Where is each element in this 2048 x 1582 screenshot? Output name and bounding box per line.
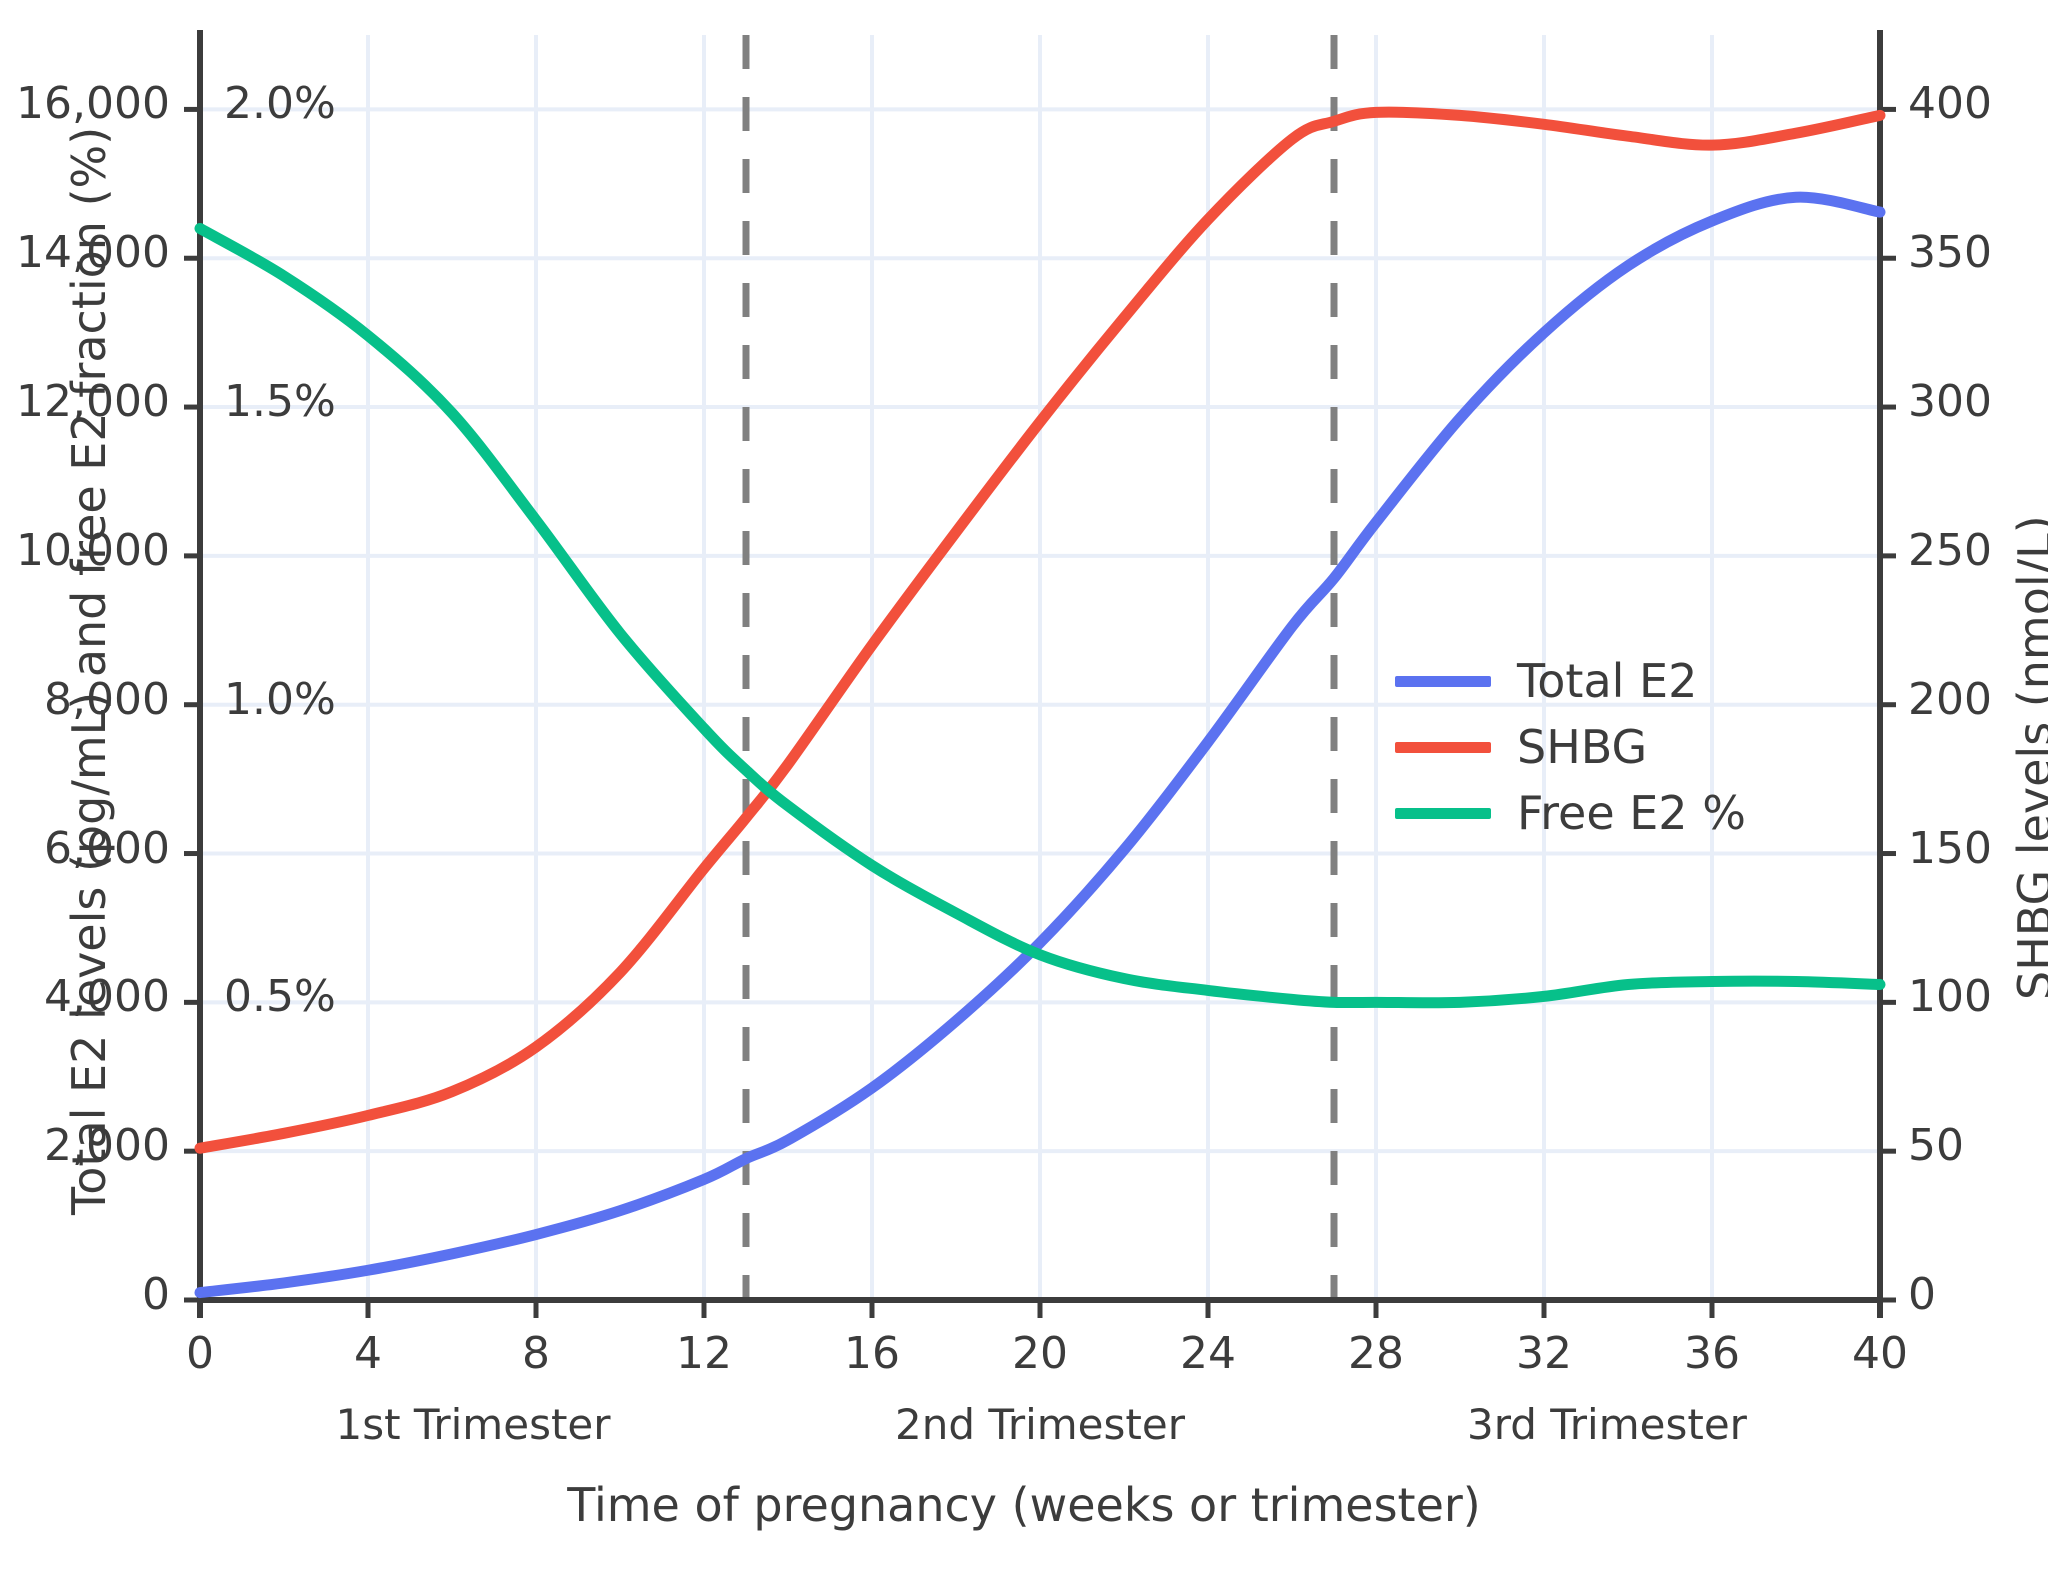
legend-label-shbg: SHBG: [1517, 720, 1647, 774]
y-tick-label-left: 8,000: [0, 674, 170, 725]
y-tick-label-left: 12,000: [0, 376, 170, 427]
x-tick-label: 40: [1810, 1328, 1950, 1379]
y-tick-label-right: 0: [1908, 1269, 1936, 1320]
x-tick-label: 0: [130, 1328, 270, 1379]
y-tick-label-right: 250: [1908, 525, 1992, 576]
y-tick-label-right: 150: [1908, 823, 1992, 874]
y-tick-label-right: 350: [1908, 227, 1992, 278]
y-tick-label-left: 6,000: [0, 823, 170, 874]
y-tick-label-left: 0: [0, 1269, 170, 1320]
y-tick-label-right: 50: [1908, 1120, 1964, 1171]
legend-label-free-e2: Free E2 %: [1517, 786, 1746, 840]
legend-swatch-total-e2: [1395, 676, 1491, 687]
y-tick-label-right: 300: [1908, 376, 1992, 427]
x-axis-title: Time of pregnancy (weeks or trimester): [0, 1478, 2048, 1532]
x-tick-label: 20: [970, 1328, 1110, 1379]
x-tick-label: 24: [1138, 1328, 1278, 1379]
x-tick-label: 16: [802, 1328, 942, 1379]
x-tick-label: 32: [1474, 1328, 1614, 1379]
y-tick-label-left: 10,000: [0, 525, 170, 576]
y-tick-label-right: 100: [1908, 971, 1992, 1022]
legend-item-shbg[interactable]: SHBG: [1395, 714, 1746, 780]
y-tick-label-left: 2,000: [0, 1120, 170, 1171]
trimester-label: 3rd Trimester: [1407, 1400, 1807, 1449]
x-tick-label: 8: [466, 1328, 606, 1379]
y-axis-right-title: SHBG levels (nmol/L): [2008, 515, 2048, 1000]
x-tick-label: 28: [1306, 1328, 1446, 1379]
y-axis-left-title: Total E2 levels (pg/mL) and free E2 frac…: [62, 127, 116, 1215]
y-tick-label-right: 200: [1908, 674, 1992, 725]
legend-swatch-shbg: [1395, 742, 1491, 753]
trimester-label: 1st Trimester: [273, 1400, 673, 1449]
free-e2-percent-label: 2.0%: [224, 78, 336, 129]
legend-item-free-e2[interactable]: Free E2 %: [1395, 780, 1746, 846]
legend[interactable]: Total E2 SHBG Free E2 %: [1395, 648, 1746, 846]
y-tick-label-left: 16,000: [0, 78, 170, 129]
x-tick-label: 36: [1642, 1328, 1782, 1379]
x-tick-label: 12: [634, 1328, 774, 1379]
y-tick-label-right: 400: [1908, 78, 1992, 129]
trimester-label: 2nd Trimester: [840, 1400, 1240, 1449]
y-tick-label-left: 14,000: [0, 227, 170, 278]
free-e2-percent-label: 1.5%: [224, 376, 336, 427]
chart-figure: Total E2 levels (pg/mL) and free E2 frac…: [0, 0, 2048, 1582]
legend-swatch-free-e2: [1395, 808, 1491, 819]
y-tick-label-left: 4,000: [0, 971, 170, 1022]
free-e2-percent-label: 1.0%: [224, 674, 336, 725]
legend-label-total-e2: Total E2: [1517, 654, 1697, 708]
x-tick-label: 4: [298, 1328, 438, 1379]
legend-item-total-e2[interactable]: Total E2: [1395, 648, 1746, 714]
free-e2-percent-label: 0.5%: [224, 971, 336, 1022]
